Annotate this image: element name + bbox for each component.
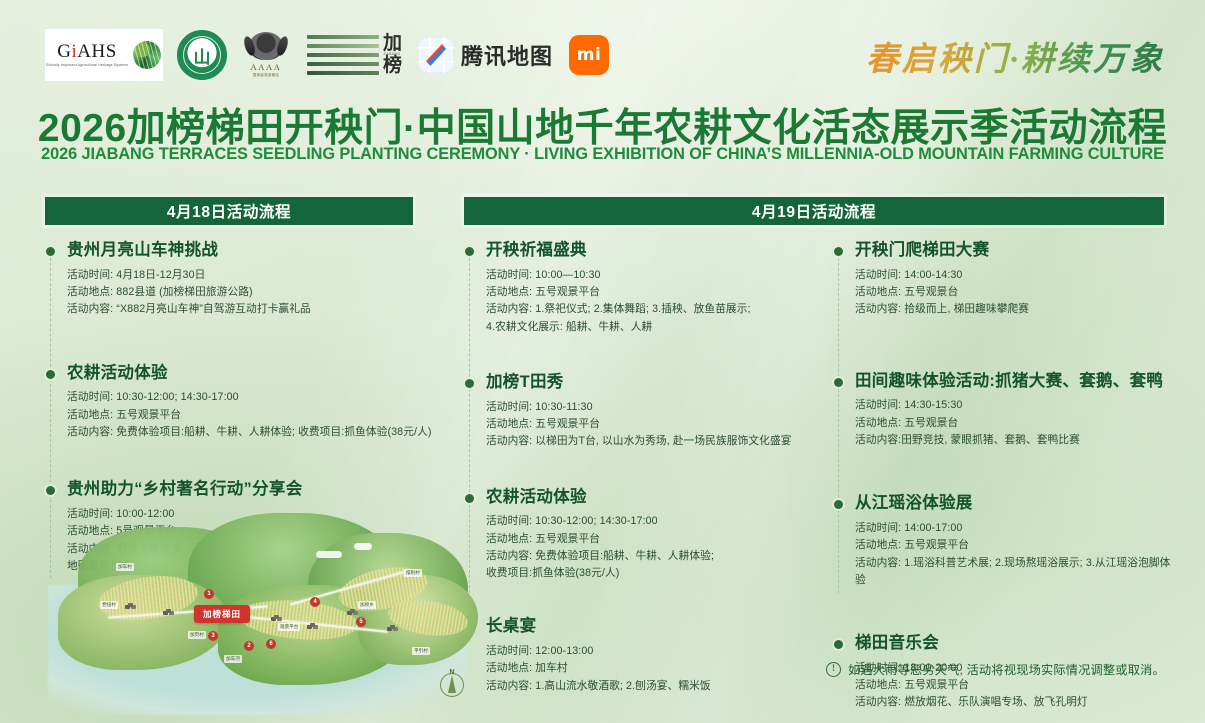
day-18-header-label: 4月18日活动流程	[167, 200, 291, 222]
event-detail-line: 活动地点: 五号观景平台	[67, 407, 445, 424]
event-title: 梯田音乐会	[855, 633, 1173, 654]
village-marker	[128, 603, 133, 607]
village-marker	[310, 623, 315, 627]
event-title: 从江瑶浴体验展	[855, 493, 1173, 514]
xiaomi-logo: mi	[569, 35, 609, 75]
event-item: 田间趣味体验活动:抓猪大赛、套鹅、套鸭 活动时间: 14:30-15:30 活动…	[833, 371, 1173, 450]
day-19-right-event-column: 开秧门爬梯田大赛 活动时间: 14:00-14:30 活动地点: 五号观景台 活…	[833, 240, 1173, 723]
map-place-label: 平引村	[412, 647, 430, 655]
page-title-en: 2026 JIABANG TERRACES SEEDLING PLANTING …	[6, 145, 1199, 164]
poster-root: GiAHS Globally Important Agricultural He…	[0, 0, 1205, 723]
event-detail-line: 活动内容: 以梯田为T台, 以山水为秀场, 赴一场民族服饰文化盛宴	[486, 433, 819, 450]
terrace-map-illustration: 1 2 3 4 5 6 加榜梯田 加车村 党扭村 加页村 加车河 观景平台 加榜…	[38, 505, 478, 715]
map-place-label: 加页村	[188, 631, 206, 639]
day-18-header-bar: 4月18日活动流程	[45, 197, 413, 225]
event-detail-line: 活动内容: 拾级而上, 梯田趣味攀爬赛	[855, 301, 1173, 318]
event-detail-line: 活动地点: 五号观景平台	[486, 416, 819, 433]
event-detail-line: 活动内容: 燃放烟花、乐队演唱专场、放飞孔明灯	[855, 694, 1173, 711]
jiabang-char-1: 加	[383, 35, 402, 53]
jiabang-logo: 加 JIABANG 榜	[307, 35, 402, 75]
event-title: 长桌宴	[486, 616, 819, 637]
event-item: 农耕活动体验 活动时间: 10:30-12:00; 14:30-17:00 活动…	[45, 363, 445, 442]
weather-note-text: 如遇大雨等恶劣天气, 活动将视现场实际情况调整或取消。	[848, 660, 1165, 678]
event-title: 田间趣味体验活动:抓猪大赛、套鹅、套鸭	[855, 371, 1173, 392]
event-item: 开秧祈福盛典 活动时间: 10:00—10:30 活动地点: 五号观景平台 活动…	[464, 240, 819, 336]
cloud-icon	[316, 551, 342, 558]
aaaa-label: AAAA	[251, 62, 282, 72]
timeline-bullet-icon	[834, 247, 843, 256]
weather-note: ! 如遇大雨等恶劣天气, 活动将视现场实际情况调整或取消。	[826, 660, 1165, 678]
event-detail-line: 活动地点: 五号观景平台	[486, 284, 819, 301]
timeline-bullet-icon	[465, 494, 474, 503]
event-item: 农耕活动体验 活动时间: 10:30-12:00; 14:30-17:00 活动…	[464, 487, 819, 583]
timeline-bullet-icon	[834, 500, 843, 509]
event-detail-line: 活动时间: 14:30-15:30	[855, 397, 1173, 414]
event-title: 开秧祈福盛典	[486, 240, 819, 261]
cloud-icon	[354, 543, 372, 550]
event-detail-line: 活动时间: 14:00-14:30	[855, 267, 1173, 284]
aaaa-sublabel: 国家级旅游景区	[253, 73, 280, 78]
day-19-left-event-column: 开秧祈福盛典 活动时间: 10:00—10:30 活动地点: 五号观景平台 活动…	[464, 240, 819, 717]
logo-bar: GiAHS Globally Important Agricultural He…	[45, 27, 609, 83]
tencent-map-logo: 腾讯地图	[418, 37, 553, 73]
timeline-bullet-icon	[465, 247, 474, 256]
tourism-seal-logo: 山	[177, 30, 227, 80]
event-item: 从江瑶浴体验展 活动时间: 14:00-17:00 活动地点: 五号观景平台 活…	[833, 493, 1173, 589]
event-detail-line: 活动地点: 五号观景平台	[855, 537, 1173, 554]
event-detail-line: 活动地点: 五号观景台	[855, 284, 1173, 301]
map-pin-icon: 6	[266, 639, 276, 649]
mi-wordmark: mi	[577, 45, 602, 65]
event-item: 贵州月亮山车神挑战 活动时间: 4月18日-12月30日 活动地点: 882县道…	[45, 240, 445, 319]
village-marker	[350, 609, 355, 613]
event-detail-line: 活动地点: 加车村	[486, 660, 819, 677]
map-pin-icon: 1	[204, 589, 214, 599]
event-title: 加榜T田秀	[486, 372, 819, 393]
event-title: 开秧门爬梯田大赛	[855, 240, 1173, 261]
event-item: 开秧门爬梯田大赛 活动时间: 14:00-14:30 活动地点: 五号观景台 活…	[833, 240, 1173, 319]
event-title: 贵州助力“乡村著名行动”分享会	[67, 479, 445, 500]
event-detail-line: 活动内容: 免费体验项目:船耕、牛耕、人耕体验;	[486, 548, 819, 565]
jiabang-wordmark: 加 JIABANG 榜	[383, 35, 402, 75]
compass-needle-icon	[418, 37, 454, 73]
event-detail-line: 活动内容: 1.瑶浴科普艺术展; 2.现场熬瑶浴展示; 3.从江瑶浴泡脚体验	[855, 555, 1173, 590]
seal-ring	[183, 36, 221, 74]
event-detail-line: 4.农耕文化展示: 船耕、牛耕、人耕	[486, 319, 819, 336]
tencent-map-wordmark: 腾讯地图	[461, 39, 553, 71]
village-marker	[274, 615, 279, 619]
event-detail-line: 活动内容:田野竞技, 蒙眼抓猪、套鹅、套鸭比赛	[855, 432, 1173, 449]
giahs-logo-text: GiAHS Globally Important Agricultural He…	[46, 42, 129, 67]
event-title: 农耕活动体验	[486, 487, 819, 508]
compass-north-label: N	[449, 669, 454, 676]
event-detail-line: 活动时间: 14:00-17:00	[855, 520, 1173, 537]
event-item: 长桌宴 活动时间: 12:00-13:00 活动地点: 加车村 活动内容: 1.…	[464, 616, 819, 695]
event-detail-line: 活动时间: 10:30-11:30	[486, 399, 819, 416]
timeline-bullet-icon	[46, 370, 55, 379]
timeline-bullet-icon	[46, 247, 55, 256]
map-place-label: 加车河	[224, 655, 242, 663]
day-19-header-label: 4月19日活动流程	[752, 200, 876, 222]
giahs-logo-subtitle: Globally Important Agricultural Heritage…	[46, 64, 129, 67]
village-marker	[166, 609, 171, 613]
event-title: 农耕活动体验	[67, 363, 445, 384]
giahs-logo: GiAHS Globally Important Agricultural He…	[45, 29, 163, 81]
globe-icon	[132, 40, 162, 70]
timeline-bullet-icon	[834, 378, 843, 387]
map-place-label: 观景平台	[278, 623, 300, 631]
event-detail-line: 活动时间: 10:30-12:00; 14:30-17:00	[486, 513, 819, 530]
event-detail-line: 活动时间: 12:00-13:00	[486, 643, 819, 660]
giahs-logo-wordmark: GiAHS	[57, 42, 117, 61]
event-detail-line: 活动时间: 10:30-12:00; 14:30-17:00	[67, 389, 445, 406]
calligraphy-slogan: 春启秧门·耕续万象	[866, 32, 1165, 80]
map-main-label: 加榜梯田	[194, 605, 250, 623]
map-pin-icon: 2	[244, 641, 254, 651]
day-19-header-bar: 4月19日活动流程	[464, 197, 1164, 225]
map-pin-icon: 3	[208, 631, 218, 641]
timeline-bullet-icon	[834, 640, 843, 649]
event-detail-line: 活动时间: 4月18日-12月30日	[67, 267, 445, 284]
event-detail-line: 活动地点: 五号观景台	[855, 415, 1173, 432]
event-item: 加榜T田秀 活动时间: 10:30-11:30 活动地点: 五号观景平台 活动内…	[464, 372, 819, 451]
exclamation-icon: !	[826, 662, 841, 677]
compass-arrow	[448, 675, 456, 693]
event-title: 贵州月亮山车神挑战	[67, 240, 445, 261]
event-detail-line: 活动地点: 882县道 (加榜梯田旅游公路)	[67, 284, 445, 301]
map-place-label: 加榜乡	[358, 601, 376, 609]
map-pin-icon: 5	[356, 617, 366, 627]
village-marker	[390, 625, 395, 629]
map-place-label: 党扭村	[100, 601, 118, 609]
compass-icon: N	[434, 667, 470, 703]
event-detail-line: 活动内容: 1.高山流水敬酒歌; 2.刨汤宴、糯米饭	[486, 678, 819, 695]
aaaa-scenic-logo: AAAA 国家级旅游景区	[239, 30, 293, 80]
timeline-bullet-icon	[46, 486, 55, 495]
map-place-label: 加车村	[116, 563, 134, 571]
event-detail-line: 活动地点: 五号观景平台	[486, 531, 819, 548]
map-place-label: 摆别村	[404, 569, 422, 577]
event-detail-line: 活动内容: 1.祭祀仪式; 2.集体舞蹈; 3.插秧、放鱼苗展示;	[486, 301, 819, 318]
event-detail-line: 活动时间: 10:00—10:30	[486, 267, 819, 284]
event-detail-line: 活动内容: “X882月亮山车神”自驾游互动打卡赢礼品	[67, 301, 445, 318]
event-detail-line: 收费项目:抓鱼体验(38元/人)	[486, 565, 819, 582]
event-detail-line: 活动内容: 免费体验项目:船耕、牛耕、人耕体验; 收费项目:抓鱼体验(38元/人…	[67, 424, 445, 441]
timeline-bullet-icon	[465, 379, 474, 388]
event-detail-line: 活动地点: 五号观景平台	[855, 677, 1173, 694]
terrace-lines-icon	[307, 35, 379, 75]
crest-icon	[249, 32, 283, 60]
jiabang-char-2: 榜	[383, 57, 402, 75]
map-pin-icon: 4	[310, 597, 320, 607]
